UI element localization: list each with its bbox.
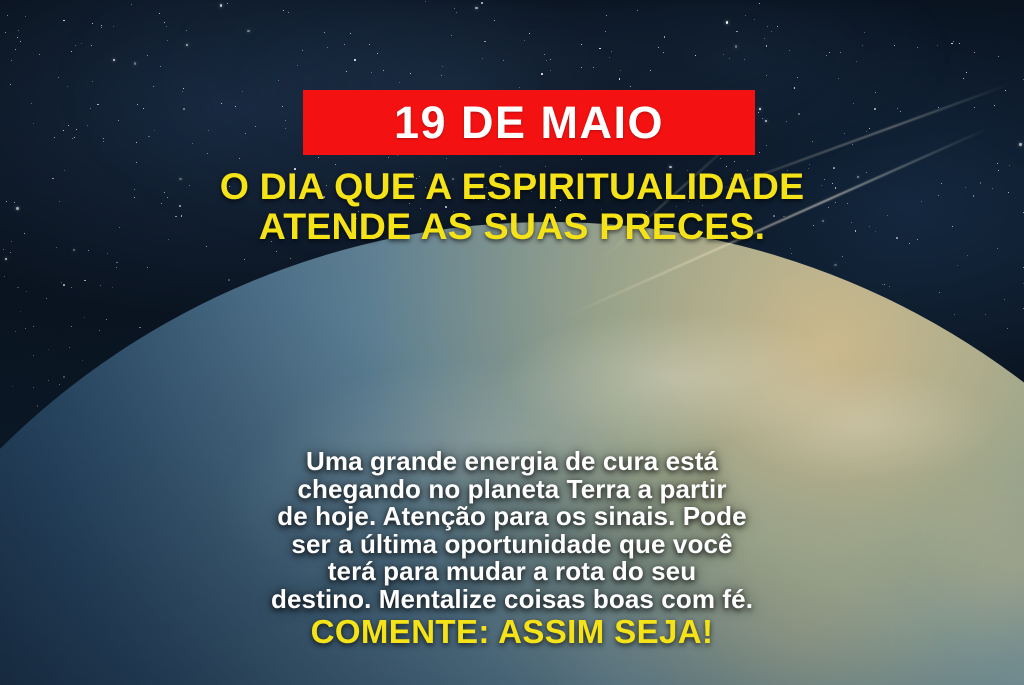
date-banner: 19 DE MAIO <box>303 90 755 155</box>
body-line-5: terá para mudar a rota do seu <box>10 558 1014 586</box>
body-line-1: Uma grande energia de cura está <box>10 448 1014 476</box>
body-line-6: destino. Mentalize coisas boas com fé. <box>10 586 1014 614</box>
poster-content: 19 DE MAIO O DIA QUE A ESPIRITUALIDADE A… <box>0 0 1024 685</box>
call-to-action-text: COMENTE: ASSIM SEJA! <box>0 614 1024 650</box>
body-line-2: chegando no planeta Terra a partir <box>10 476 1014 504</box>
headline-line-2: ATENDE AS SUAS PRECES. <box>14 206 1010 246</box>
body-line-4: ser a última oportunidade que você <box>10 531 1014 559</box>
body-line-3: de hoje. Atenção para os sinais. Pode <box>10 503 1014 531</box>
body-paragraph: Uma grande energia de cura está chegando… <box>0 448 1024 613</box>
headline-line-1: O DIA QUE A ESPIRITUALIDADE <box>14 166 1010 206</box>
headline: O DIA QUE A ESPIRITUALIDADE ATENDE AS SU… <box>0 166 1024 246</box>
date-banner-text: 19 DE MAIO <box>394 100 664 145</box>
poster-canvas: 19 DE MAIO O DIA QUE A ESPIRITUALIDADE A… <box>0 0 1024 685</box>
